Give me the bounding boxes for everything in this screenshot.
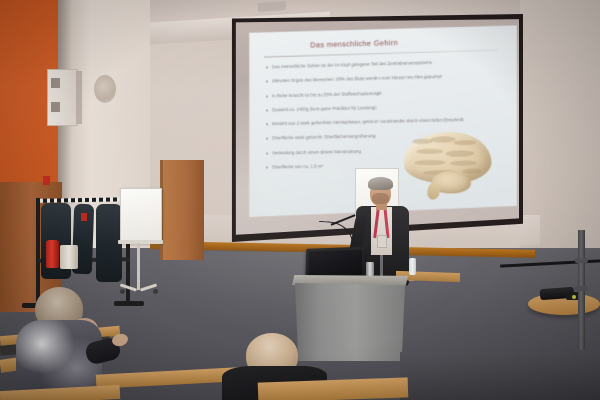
presenter-hair — [368, 177, 393, 190]
presenter-name-badge — [377, 235, 387, 248]
pole-joint — [575, 286, 588, 291]
slide-bullet: Das menschliche Gehirn ist der im Kopf g… — [266, 58, 500, 70]
presenter-face — [372, 193, 389, 204]
human-brain-photo — [399, 125, 504, 206]
bench-row-right — [400, 352, 600, 400]
indicator-light-icon — [572, 295, 576, 299]
flipchart-board — [120, 188, 162, 244]
wooden-door[interactable] — [160, 160, 204, 260]
paper-dispenser-icon — [47, 69, 78, 126]
coat-rack-foot — [114, 301, 144, 306]
coat-rack-post — [36, 198, 40, 306]
slide-bullet: Besteht aus 2 stark gefurchten Hemisphär… — [266, 117, 477, 127]
slide-bullet: In Ruhe braucht es bis zu 25% der Stoffw… — [266, 87, 500, 98]
paper-dispenser-side — [76, 71, 82, 124]
flipchart-tray — [118, 240, 163, 244]
slide-title-rule — [264, 50, 498, 58]
monitor-screen — [308, 250, 362, 280]
lectern[interactable] — [295, 283, 405, 361]
slide-bullet: Gewicht ca. 1400g (kein guter Prädiktor … — [266, 102, 500, 113]
bucket — [60, 245, 78, 269]
fire-sign-icon — [81, 213, 87, 221]
wall-speaker-icon — [94, 75, 116, 103]
flipchart-base — [120, 286, 158, 294]
flipchart-pole — [137, 243, 140, 290]
slide-title: Das menschliche Gehirn — [310, 38, 398, 50]
fire-sign-icon — [43, 176, 50, 185]
drinking-glass — [366, 262, 374, 276]
pole-joint — [575, 258, 588, 263]
slide-bullet: Aktivstes Organ des Menschen: 20% des Bl… — [266, 73, 500, 84]
fire-extinguisher-icon — [46, 240, 59, 268]
lecture-hall-photo: Das menschliche Gehirn Das menschliche G… — [0, 0, 600, 400]
water-bottle — [409, 258, 416, 275]
